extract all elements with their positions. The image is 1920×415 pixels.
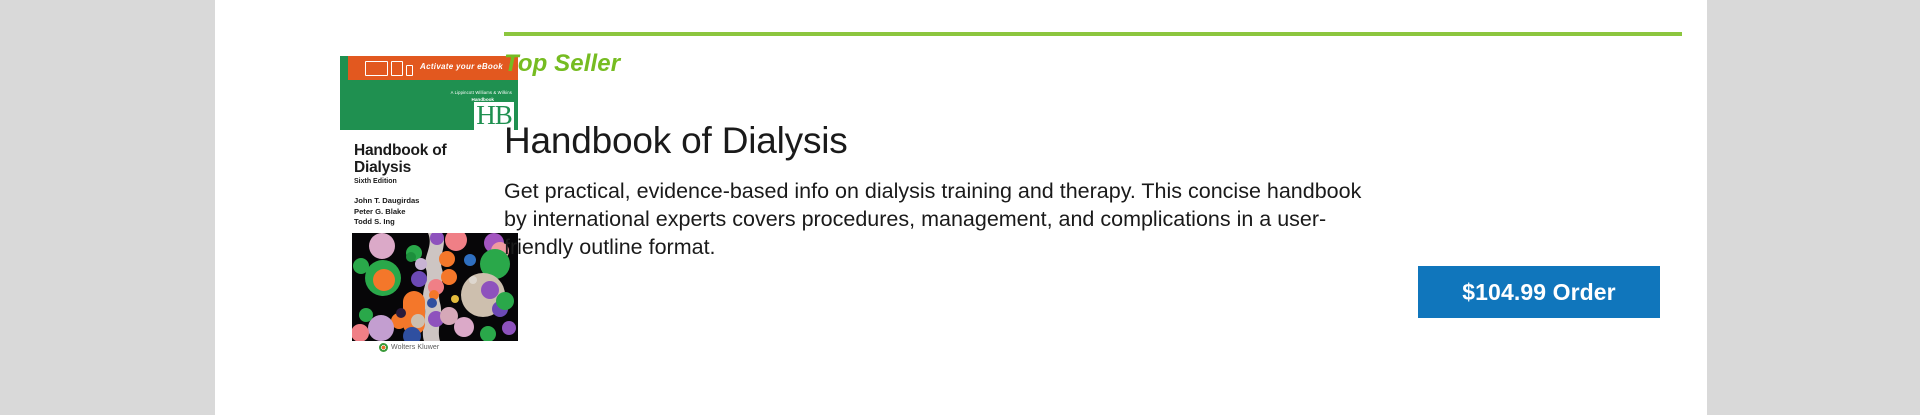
ebook-banner-label: Activate your eBook	[420, 62, 503, 71]
devices-icon	[365, 61, 413, 76]
cover-edition: Sixth Edition	[354, 178, 397, 185]
phone-icon	[406, 65, 413, 76]
cover-publisher-line: A Lippincott Williams & Wilkins	[451, 90, 512, 95]
content-page: Activate your eBook A Lippincott William…	[215, 0, 1707, 415]
ebook-activation-banner: Activate your eBook	[348, 56, 518, 80]
order-button[interactable]: $104.99 Order	[1418, 266, 1660, 318]
book-cover: Activate your eBook A Lippincott William…	[340, 56, 518, 341]
eyebrow-label: Top Seller	[504, 50, 620, 78]
wolters-kluwer-label: Wolters Kluwer	[391, 344, 439, 351]
cover-authors: John T. Daugirdas Peter G. Blake Todd S.…	[354, 196, 419, 228]
cover-title: Handbook of Dialysis	[354, 142, 484, 176]
cover-artwork	[352, 233, 518, 341]
laptop-icon	[365, 61, 388, 76]
promo-card: Activate your eBook A Lippincott William…	[215, 0, 1707, 415]
promo-description: Get practical, evidence-based info on di…	[504, 177, 1374, 261]
tablet-icon	[391, 61, 403, 76]
wolters-kluwer-mark-icon	[379, 343, 388, 352]
wolters-kluwer-logo: Wolters Kluwer	[379, 343, 439, 352]
page-title: Handbook of Dialysis	[504, 120, 848, 162]
top-rule-divider	[504, 32, 1682, 36]
